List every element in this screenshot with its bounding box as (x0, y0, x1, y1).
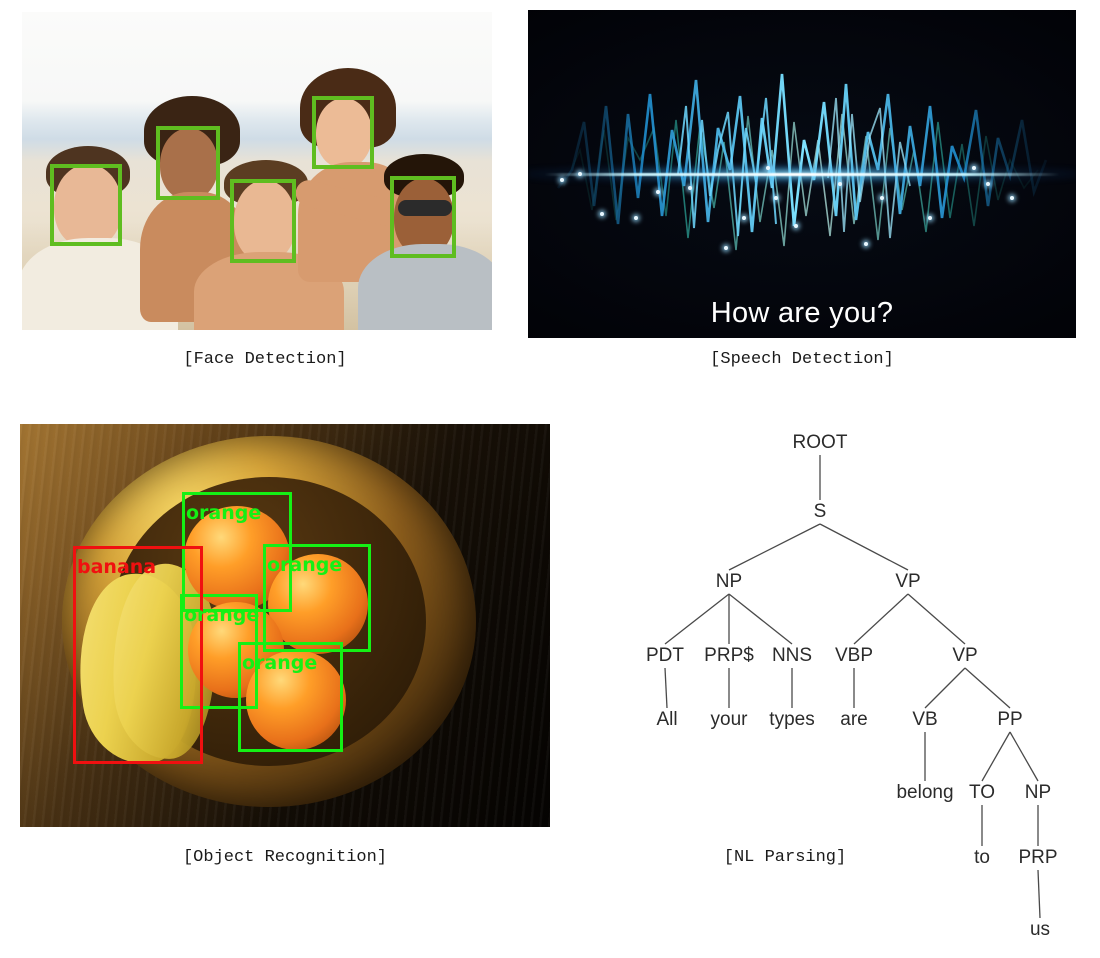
parse-edge-s-vp1 (820, 524, 908, 570)
parse-edge-vp2-vb (925, 668, 965, 708)
parse-node-nns: NNS (772, 645, 812, 667)
face-bounding-box (50, 164, 122, 246)
parse-node-vp1: VP (895, 571, 920, 593)
speech-detection-image: How are you? (528, 10, 1076, 338)
speech-transcript: How are you? (528, 297, 1076, 330)
parse-node-to_tag: TO (969, 782, 995, 804)
face-bounding-box (156, 126, 220, 200)
parse-node-s: S (814, 501, 827, 523)
parse-node-prp: PRP (1018, 847, 1057, 869)
caption-nl-parsing: [NL Parsing] (690, 848, 880, 867)
sparkle-dot (1010, 196, 1014, 200)
parse-node-vp2: VP (952, 645, 977, 667)
sparkle-dot (560, 178, 564, 182)
sparkle-dot (864, 242, 868, 246)
parse-node-to_word: to (974, 847, 990, 869)
page-root: [Face Detection] (0, 0, 1100, 958)
parse-node-belong: belong (896, 782, 953, 804)
sparkle-dot (634, 216, 638, 220)
parse-edge-s-np1 (729, 524, 820, 570)
parse-edge-prp-us (1038, 870, 1040, 918)
sparkle-dot (600, 212, 604, 216)
parse-edge-vp1-vbp (854, 594, 908, 644)
sparkle-dot (972, 166, 976, 170)
parse-node-your: your (711, 709, 748, 731)
sparkle-dot (724, 246, 728, 250)
sparkle-dot (986, 182, 990, 186)
sparkle-dot (794, 224, 798, 228)
sparkle-dot (774, 196, 778, 200)
parse-node-pdt: PDT (646, 645, 684, 667)
parse-node-root: ROOT (793, 432, 848, 454)
parse-edge-vp1-vp2 (908, 594, 965, 644)
parse-node-all: All (656, 709, 677, 731)
parse-node-types: types (769, 709, 814, 731)
parse-node-np1: NP (716, 571, 742, 593)
waveform-center-line (544, 173, 1059, 176)
detection-label-orange: orange (267, 556, 342, 575)
parse-node-vb: VB (912, 709, 937, 731)
detection-label-orange: orange (186, 504, 261, 523)
parse-node-pp: PP (997, 709, 1022, 731)
parse-node-prps: PRP$ (704, 645, 754, 667)
caption-speech-detection: [Speech Detection] (528, 350, 1076, 369)
detection-box-banana (73, 546, 203, 764)
detection-label-banana: banana (77, 558, 156, 577)
parse-node-vbp: VBP (835, 645, 873, 667)
face-bounding-box (230, 179, 296, 263)
parse-edge-pp-np2 (1010, 732, 1038, 781)
parse-edge-pp-to_tag (982, 732, 1010, 781)
parse-edge-np1-nns (729, 594, 792, 644)
parse-node-np2: NP (1025, 782, 1051, 804)
sparkle-dot (578, 172, 582, 176)
sparkle-dot (688, 186, 692, 190)
sparkle-dot (742, 216, 746, 220)
caption-object-recognition: [Object Recognition] (20, 848, 550, 867)
sparkle-dot (656, 190, 660, 194)
detection-label-orange: orange (184, 606, 259, 625)
sparkle-dot (838, 182, 842, 186)
face-bounding-box (312, 96, 374, 169)
caption-face-detection: [Face Detection] (0, 350, 530, 369)
parse-edge-vp2-pp (965, 668, 1010, 708)
object-recognition-image: orange orange orange orange banana (20, 424, 550, 827)
parse-node-us: us (1030, 919, 1050, 941)
parse-edge-np1-pdt (665, 594, 729, 644)
detection-label-orange: orange (242, 654, 317, 673)
face-detection-image (22, 12, 492, 330)
sparkle-dot (766, 166, 770, 170)
parse-edge-pdt-all (665, 668, 667, 708)
face-bounding-box (390, 176, 456, 258)
sparkle-dot (880, 196, 884, 200)
parse-node-are: are (840, 709, 867, 731)
sparkle-dot (928, 216, 932, 220)
